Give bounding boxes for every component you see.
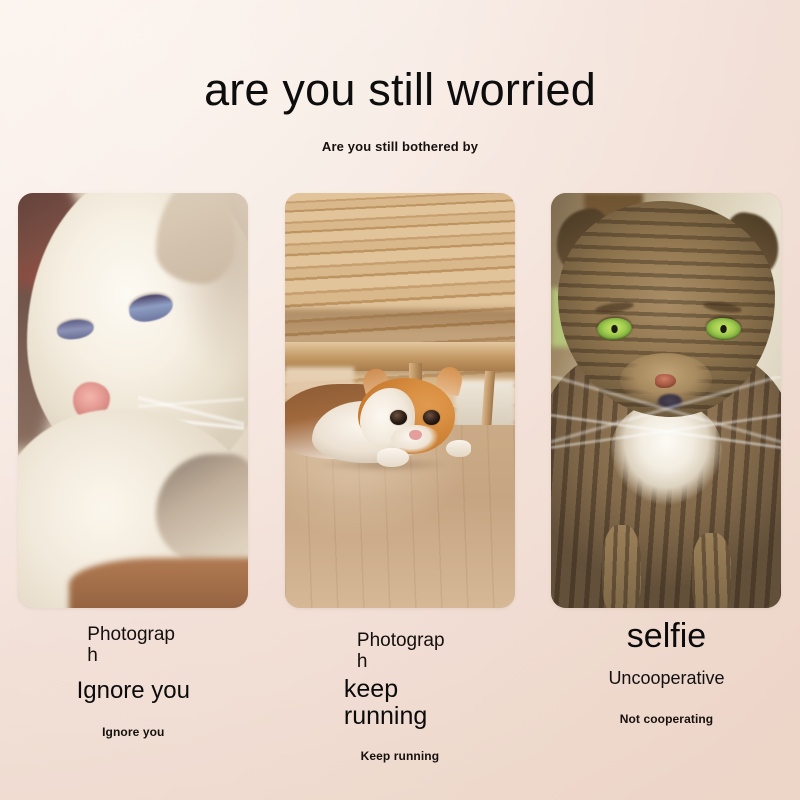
caption-block-2: Photograph keep running Keep running <box>267 608 534 763</box>
photo1-floor <box>69 558 248 608</box>
photo-card-2[interactable] <box>285 193 515 608</box>
page-title: are you still worried <box>0 0 800 115</box>
photo3-cat-leg-left <box>602 525 641 608</box>
photo-orange-cat-under-bed <box>285 193 515 608</box>
headings-block: are you still worried Are you still both… <box>0 0 800 154</box>
caption-block-1: Photograph Ignore you Ignore you <box>0 608 267 739</box>
caption-kicker-2: Photograph <box>347 625 453 672</box>
photo-card-1[interactable] <box>18 193 248 608</box>
caption-main-2: keep running <box>336 676 464 729</box>
caption-main-1: Ignore you <box>0 678 267 703</box>
photo-white-cat <box>18 193 248 608</box>
caption-kicker-3: selfie <box>533 618 800 654</box>
columns-container: Photograph Ignore you Ignore you <box>0 193 800 763</box>
photo3-cat-whiskers <box>551 376 781 467</box>
photo3-cat-leg-right <box>692 533 731 608</box>
page-subtitle: Are you still bothered by <box>0 115 800 154</box>
photo2-cat-eye-left <box>390 410 407 425</box>
poster: are you still worried Are you still both… <box>0 0 800 800</box>
caption-main-3: Uncooperative <box>533 668 800 689</box>
photo1-cat-ear <box>156 193 234 284</box>
caption-block-3: selfie Uncooperative Not cooperating <box>533 608 800 726</box>
photo-card-3[interactable] <box>551 193 781 608</box>
column-keep-running: Photograph keep running Keep running <box>267 193 534 763</box>
photo2-cat-eye-right <box>423 410 440 425</box>
caption-small-1: Ignore you <box>0 725 267 739</box>
caption-small-2: Keep running <box>267 749 534 763</box>
column-uncooperative: selfie Uncooperative Not cooperating <box>533 193 800 763</box>
photo2-cat-paw-left <box>377 448 409 467</box>
photo2-cat-paw-right <box>446 440 471 457</box>
photo-tabby-cat <box>551 193 781 608</box>
caption-kicker-1: Photograph <box>83 625 183 666</box>
caption-small-3: Not cooperating <box>533 712 800 726</box>
column-ignore-you: Photograph Ignore you Ignore you <box>0 193 267 763</box>
